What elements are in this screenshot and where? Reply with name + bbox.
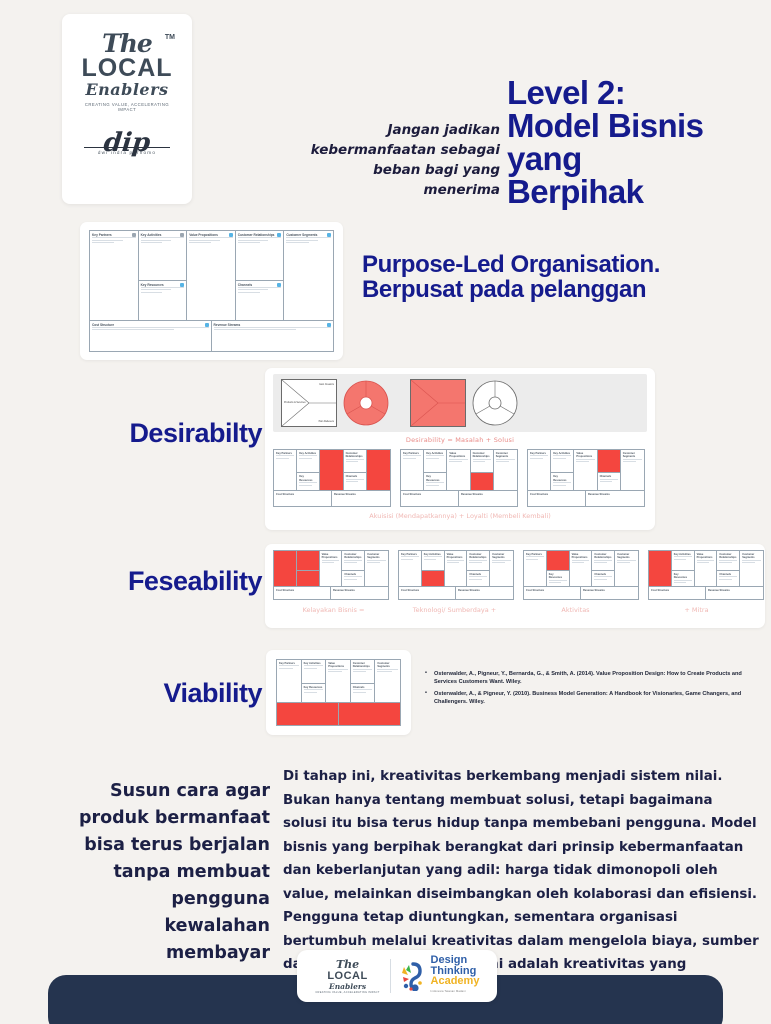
footer-logo-tagline: CREATING VALUE, ACCELERATING IMPACT <box>315 991 381 994</box>
vpc-value-map-filled <box>410 379 466 427</box>
gift-icon <box>229 233 233 237</box>
the-local-enablers-logo: TM The LOCAL Enablers CREATING VALUE, AC… <box>75 32 179 112</box>
coins-icon <box>327 323 331 327</box>
canvas-block-revenue-streams: Revenue Streams <box>212 321 334 351</box>
dta-line-academy: Academy <box>431 976 480 987</box>
highlight-key-resources <box>422 570 444 586</box>
mini-canvas-3: Key Partners Key Activities Key Resource… <box>527 449 645 507</box>
desirability-caption: Desirability = Masalah + Solusi <box>273 436 647 444</box>
desirability-card: Gain Creators Products & Services Pain R… <box>265 368 655 530</box>
footer-logo-card: The LOCAL Enablers CREATING VALUE, ACCEL… <box>297 950 497 1002</box>
canvas-block-key-partners: Key Partners <box>90 231 139 320</box>
canvas-block-customer-relationships: Customer Relationships <box>236 231 284 280</box>
highlight-activities-resources <box>297 551 320 586</box>
trademark-icon: TM <box>165 34 175 41</box>
section-label-desirability: Desirabilty <box>40 418 262 449</box>
vpc-pair-1: Gain Creators Products & Services Pain R… <box>281 379 392 427</box>
highlight-cost-structure <box>277 703 339 725</box>
footer-logo-word-the: The <box>315 959 381 970</box>
feasibility-canvas-4: Key Activities Key Resources Value Propo… <box>648 550 764 600</box>
canvas-block-key-activities: Key Activities <box>139 231 187 280</box>
footer-logo-word-enablers: Enablers <box>315 982 381 991</box>
infographic-slide: TM The LOCAL Enablers CREATING VALUE, AC… <box>0 0 771 1024</box>
highlight-customer-relationships <box>598 450 620 472</box>
pencil-icon <box>132 233 136 237</box>
mini-canvas-2: Key Partners Key Activities Key Resource… <box>400 449 518 507</box>
dta-line-subtitle: Indonesia Tatanan Madani <box>431 987 480 998</box>
reference-list: Osterwalder, A., Pigneur, Y., Bernarda, … <box>425 670 755 710</box>
feasibility-canvas-2: Key Partners Key Activities Value Propos… <box>398 550 514 600</box>
vpc-label-products: Products & Services <box>284 401 306 404</box>
business-model-canvas-card: Key Partners Key Activities Key Resource… <box>80 222 343 360</box>
feasibility-captions: Kelayakan Bisnis = Teknologi/ Sumberdaya… <box>273 606 757 614</box>
canvas-column-relationships-channels: Customer Relationships Channels <box>236 231 285 320</box>
vpc-customer-profile-empty <box>469 379 521 427</box>
truck-icon <box>277 283 281 287</box>
highlight-channels <box>471 472 493 490</box>
feasibility-canvas-3: Key Partners Key Resources Value Proposi… <box>523 550 639 600</box>
signature-block: dip dwi indra purnomo <box>84 130 170 155</box>
logo-word-local: LOCAL <box>75 56 179 81</box>
design-thinking-academy-logo: Design Thinking Academy Indonesia Tatana… <box>400 955 480 997</box>
feasibility-canvas-1: Value Propositions Customer Relationship… <box>273 550 389 600</box>
value-proposition-canvas-row: Gain Creators Products & Services Pain R… <box>273 374 647 432</box>
brand-logo-card: TM The LOCAL Enablers CREATING VALUE, AC… <box>62 14 192 204</box>
section-label-feasibility: Feseability <box>20 566 262 597</box>
feasibility-caption-4: + Mitra <box>636 606 757 614</box>
footer-the-local-enablers-logo: The LOCAL Enablers CREATING VALUE, ACCEL… <box>315 959 381 994</box>
feasibility-caption-3: Aktivitas <box>515 606 636 614</box>
highlight-key-activities <box>547 551 569 570</box>
section-label-viability: Viability <box>40 678 262 709</box>
canvas-block-key-resources: Key Resources <box>139 280 187 320</box>
dta-line-design: Design <box>431 955 480 966</box>
dta-mark-icon <box>400 961 428 991</box>
reference-item: Osterwalder, A., Pigneur, Y., Bernarda, … <box>425 670 755 687</box>
header-quote: Jangan jadikan kebermanfaatan sebagai be… <box>300 120 500 200</box>
dta-wordmark: Design Thinking Academy Indonesia Tatana… <box>431 955 480 997</box>
signature-mark: dip <box>83 130 172 156</box>
callout-text: Susun cara agar produk bermanfaat bisa t… <box>60 778 270 967</box>
viability-canvas: Key Partners Key Activities Key Resource… <box>276 659 401 726</box>
highlight-revenue-streams <box>339 703 401 725</box>
feasibility-card: Value Propositions Customer Relationship… <box>265 544 765 628</box>
highlight-value-propositions <box>320 450 343 490</box>
vpc-customer-profile-filled <box>340 379 392 427</box>
acquisition-loyalty-caption: Akuisisi (Mendapatkannya) + Loyalti (Mem… <box>273 512 647 520</box>
mini-canvas-1: Key Partners Key Activities Key Resource… <box>273 449 391 507</box>
page-title: Level 2: Model Bisnis yang Berpihak <box>507 76 769 208</box>
logo-word-enablers: Enablers <box>75 81 179 99</box>
tag-icon <box>205 323 209 327</box>
highlight-key-partners <box>274 551 297 586</box>
footer-logo-word-local: LOCAL <box>315 970 381 982</box>
canvas-block-value-propositions: Value Propositions <box>187 231 236 320</box>
business-model-canvas: Key Partners Key Activities Key Resource… <box>89 230 334 352</box>
vpc-pair-2 <box>410 379 521 427</box>
canvas-block-customer-segments: Customer Segments <box>284 231 333 320</box>
feasibility-caption-2: Teknologi/ Sumberdaya + <box>394 606 515 614</box>
box-icon <box>180 283 184 287</box>
canvas-block-channels: Channels <box>236 280 284 320</box>
feasibility-caption-1: Kelayakan Bisnis = <box>273 606 394 614</box>
vpc-label-pain-relievers: Pain Relievers <box>319 420 334 423</box>
users-icon <box>327 233 331 237</box>
highlight-key-partners <box>649 551 672 586</box>
canvas-column-activities-resources: Key Activities Key Resources <box>139 231 188 320</box>
desirability-canvas-row: Key Partners Key Activities Key Resource… <box>273 449 647 507</box>
feasibility-canvas-row: Value Propositions Customer Relationship… <box>273 550 757 600</box>
canvas-block-cost-structure: Cost Structure <box>90 321 212 351</box>
viability-card: Key Partners Key Activities Key Resource… <box>266 650 411 735</box>
highlight-customer-segments <box>367 450 390 490</box>
logo-word-the: The <box>75 32 179 56</box>
pencil-icon <box>180 233 184 237</box>
reference-item: Osterwalder, A., & Pigneur, Y. (2010). B… <box>425 690 755 707</box>
logo-tagline: CREATING VALUE, ACCELERATING IMPACT <box>75 102 179 112</box>
vpc-label-gain-creators: Gain Creators <box>319 383 334 386</box>
footer-divider <box>390 959 391 993</box>
heart-icon <box>277 233 281 237</box>
purpose-led-heading: Purpose-Led Organisation. Berpusat pada … <box>362 252 762 302</box>
vpc-value-map-empty: Gain Creators Products & Services Pain R… <box>281 379 337 427</box>
